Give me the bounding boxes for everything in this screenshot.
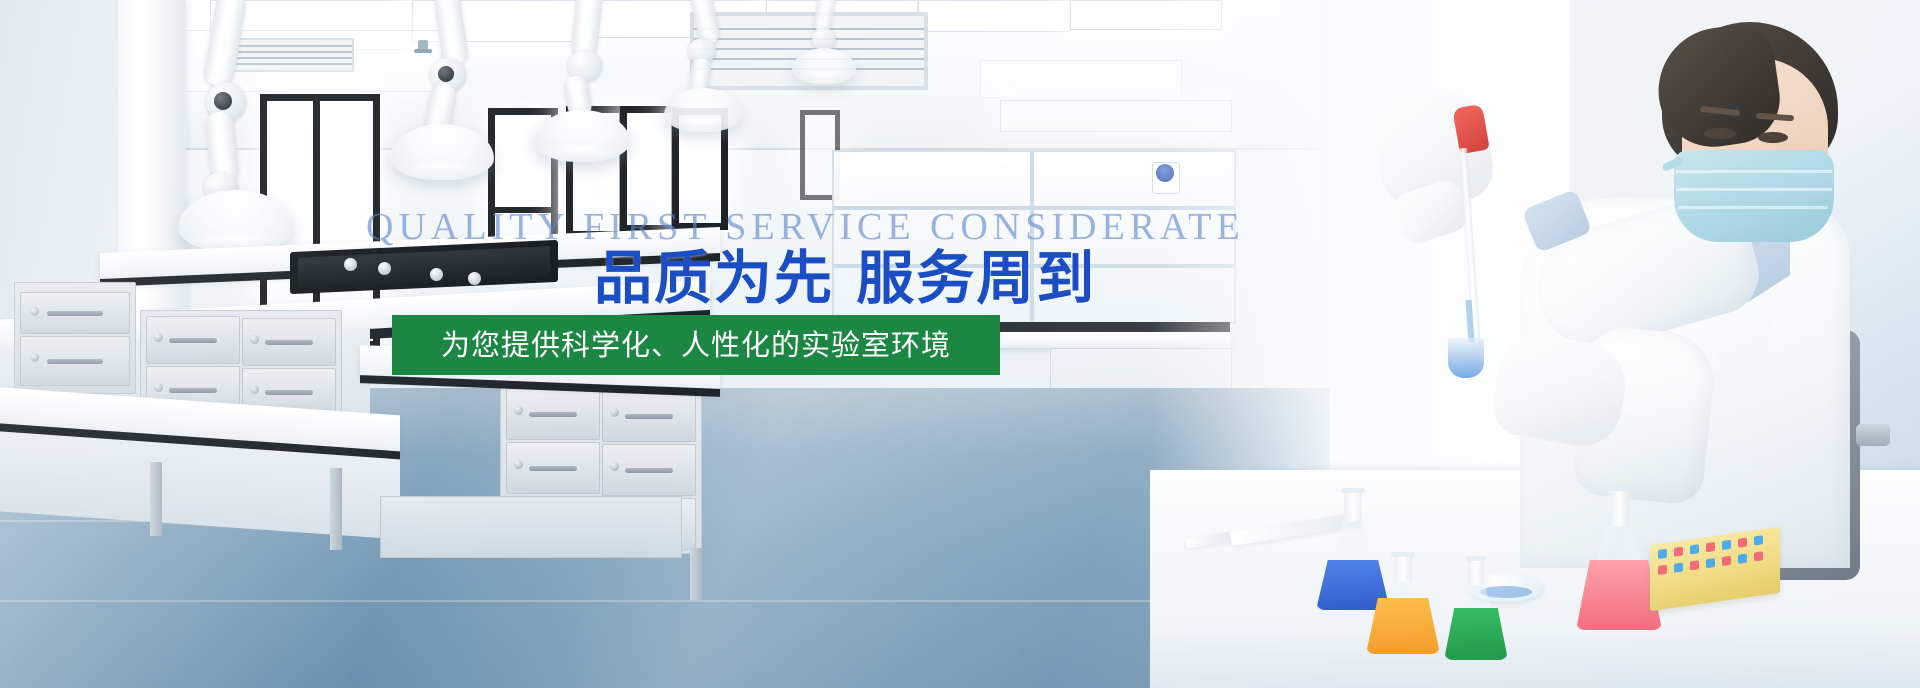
lab-hero-banner: QUALITY FIRST SERVICE CONSIDERATE 品质为先 服… — [0, 0, 1920, 688]
banner-headline: 品质为先 服务周到 — [594, 245, 1096, 311]
english-tagline: QUALITY FIRST SERVICE CONSIDERATE — [366, 205, 1245, 249]
subtitle-green-band: 为您提供科学化、人性化的实验室环境 — [392, 315, 1000, 375]
banner-text-overlay: QUALITY FIRST SERVICE CONSIDERATE 品质为先 服… — [0, 0, 1920, 688]
subtitle-text: 为您提供科学化、人性化的实验室环境 — [441, 328, 951, 362]
